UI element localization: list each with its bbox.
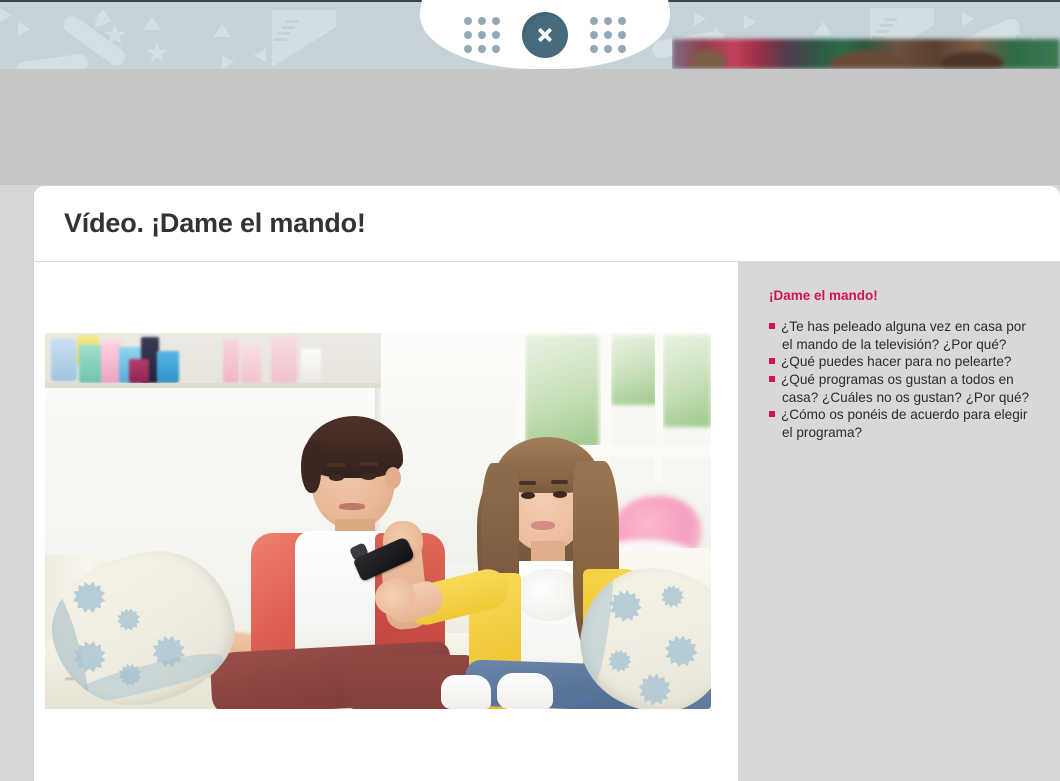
dot-grid-handle-left[interactable] [464,17,500,53]
ruler-icon [272,10,336,28]
triangle-icon [94,9,112,22]
window-controls-dome [420,0,670,69]
pencil-icon [15,53,89,69]
card-body: ¡Dame el mando! ¿Te has peleado alguna v… [34,262,1060,781]
video-frame-image [45,333,711,709]
bullet-icon [769,323,775,329]
close-button[interactable] [522,12,568,58]
triangle-icon [0,8,12,22]
list-item: ¿Te has peleado alguna vez en casa por e… [769,318,1038,353]
content-card: Vídeo. ¡Dame el mando! [33,185,1060,781]
video-player[interactable] [45,333,711,709]
list-item: ¿Qué puedes hacer para no pelearte? [769,353,1038,371]
bullet-icon [769,411,775,417]
triangle-icon [143,17,161,30]
bullet-icon [769,358,775,364]
page-background-band [0,69,1060,185]
star-icon [146,42,168,64]
question-text: ¿Te has peleado alguna vez en casa por e… [781,319,1026,352]
card-header: Vídeo. ¡Dame el mando! [34,186,1060,262]
question-text: ¿Qué programas os gustan a todos en casa… [781,372,1029,405]
question-text: ¿Qué puedes hacer para no pelearte? [781,354,1012,369]
list-item: ¿Cómo os ponéis de acuerdo para elegir e… [769,406,1038,441]
questions-panel: ¡Dame el mando! ¿Te has peleado alguna v… [738,262,1060,781]
app-topbar [0,0,1060,69]
triangle-icon [222,55,234,69]
questions-heading: ¡Dame el mando! [769,288,1038,304]
triangle-icon [18,22,30,36]
triangle-icon [213,24,231,37]
questions-list: ¿Te has peleado alguna vez en casa por e… [769,318,1038,441]
triangle-icon [254,48,266,62]
close-icon [535,25,555,45]
question-text: ¿Cómo os ponéis de acuerdo para elegir e… [781,407,1027,440]
bullet-icon [769,376,775,382]
dot-grid-handle-right[interactable] [590,17,626,53]
page-title: Vídeo. ¡Dame el mando! [64,208,366,239]
cushion-right [571,558,711,709]
video-column [34,262,738,781]
list-item: ¿Qué programas os gustan a todos en casa… [769,371,1038,406]
background-photo-peek [672,0,1060,69]
